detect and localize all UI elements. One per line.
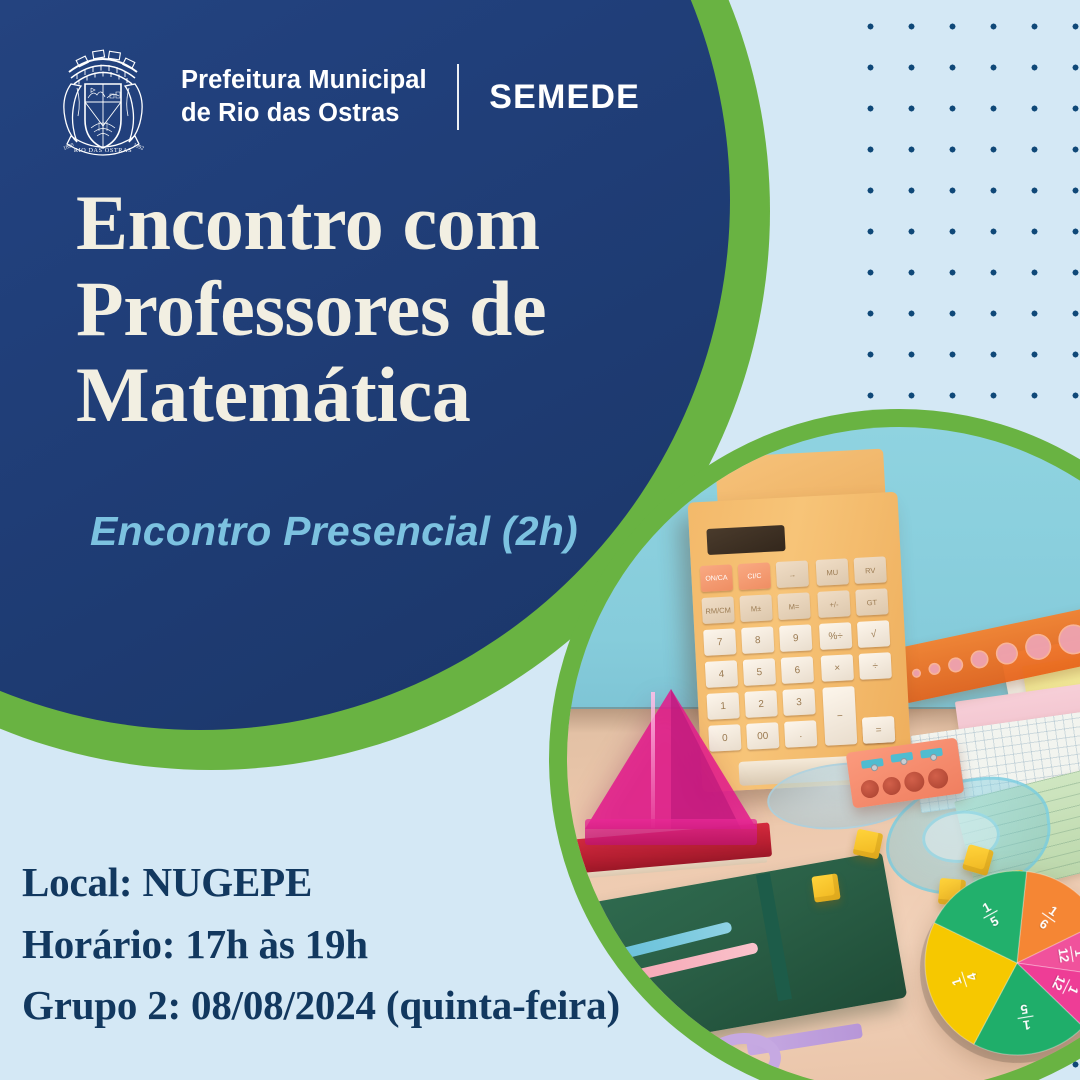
detail-local: Local: NUGEPE: [22, 852, 722, 914]
calculator-key: →: [776, 560, 809, 588]
template-hole: [994, 640, 1020, 666]
pink-pyramid-base: [585, 819, 757, 845]
title-line-1: Encontro com: [76, 180, 696, 266]
calculator-key: 7: [703, 628, 736, 656]
calculator-key: M±: [739, 594, 772, 622]
title-line-3: Matemática: [76, 352, 696, 438]
coat-of-arms-icon: RIO DAS OSTRAS 1890 1992: [47, 36, 159, 158]
calculator-display: [706, 525, 785, 555]
template-hole: [911, 667, 922, 678]
calculator-key: M=: [777, 592, 810, 620]
template-hole: [1023, 631, 1054, 662]
calculator-key: RM/CM: [701, 596, 734, 624]
template-hole: [947, 656, 965, 674]
template-hole: [969, 649, 990, 670]
calculator-key: 4: [705, 660, 738, 688]
sharpener-hole: [860, 779, 880, 799]
crest-year-right: 1992: [132, 142, 145, 152]
prefeitura-wordmark: Prefeitura Municipal de Rio das Ostras: [181, 64, 427, 129]
calculator-key: +/-: [817, 590, 850, 618]
sharpener-screw: [872, 765, 878, 771]
pink-pyramid-face: [671, 689, 741, 829]
calculator-key: GT: [855, 588, 888, 616]
sharpener-hole: [903, 770, 926, 793]
sharpener-screw: [901, 759, 907, 765]
fraction-piece-label: 15: [1010, 1001, 1042, 1034]
detail-grupo: Grupo 2: 08/08/2024 (quinta-feira): [22, 975, 722, 1037]
calculator-key: 9: [779, 624, 812, 652]
calculator-key: RV: [854, 556, 887, 584]
fraction-piece-label: 112: [1055, 938, 1080, 970]
calculator-key: 5: [743, 658, 776, 686]
calculator-key: ×: [821, 654, 854, 682]
event-details: Local: NUGEPE Horário: 17h às 19h Grupo …: [22, 852, 722, 1037]
calculator-key: .: [784, 720, 817, 748]
calculator-key: −: [822, 686, 857, 746]
sharpener-hole: [882, 776, 902, 796]
calculator-key: √: [857, 620, 890, 648]
logo-divider: [457, 64, 460, 130]
calculator-key: ON/CA: [700, 564, 733, 592]
template-hole: [1056, 622, 1080, 658]
calculator-key: MU: [816, 558, 849, 586]
logo-lockup: RIO DAS OSTRAS 1890 1992 Prefeitura Muni…: [47, 36, 640, 158]
prefeitura-line-2: de Rio das Ostras: [181, 97, 427, 130]
fraction-circle-manipulative: 16112112151415: [906, 852, 1080, 1073]
template-hole: [927, 662, 941, 676]
prefeitura-line-1: Prefeitura Municipal: [181, 64, 427, 97]
crest-motto: RIO DAS OSTRAS: [74, 147, 132, 154]
detail-horario: Horário: 17h às 19h: [22, 914, 722, 976]
yellow-cube: [811, 873, 840, 902]
poster-canvas: ON/CACI/C→MURVRM/CMM±M=+/-GT789%÷√456×÷1…: [0, 0, 1080, 1080]
pink-pyramid-highlight: [651, 692, 655, 828]
semede-wordmark: SEMEDE: [489, 78, 640, 117]
calculator-key: CI/C: [738, 562, 771, 590]
title-line-2: Professores de: [76, 266, 696, 352]
calculator-key: 6: [781, 656, 814, 684]
calculator-key: ÷: [859, 652, 892, 680]
calculator-key: 8: [741, 626, 774, 654]
calculator-key: %÷: [819, 622, 852, 650]
sharpener-screw: [931, 755, 937, 761]
sharpener-hole: [927, 767, 950, 790]
calculator-key: =: [862, 716, 895, 744]
event-subtitle: Encontro Presencial (2h): [90, 508, 710, 555]
calculator-key: 3: [782, 688, 815, 716]
page-title: Encontro com Professores de Matemática: [76, 180, 696, 437]
yellow-cube: [853, 829, 884, 860]
dot-grid-top-right: [845, 0, 1080, 420]
